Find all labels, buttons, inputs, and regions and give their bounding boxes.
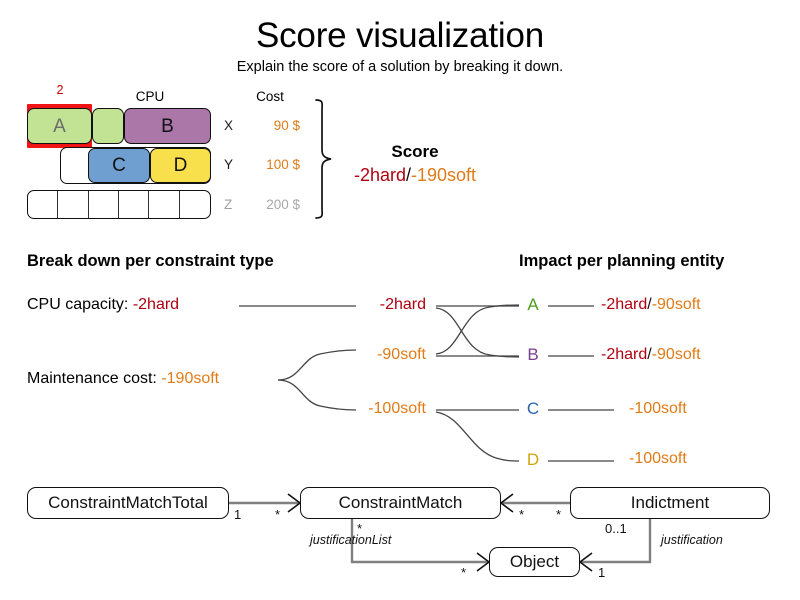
machine-row-label-z: Z xyxy=(224,197,232,212)
uml-multiplicity-cmt-source: 1 xyxy=(234,507,241,522)
constraint-score-maintenance-cost: -190soft xyxy=(161,370,219,387)
column-header-cpu: CPU xyxy=(118,89,182,104)
uml-class-object[interactable]: Object xyxy=(489,547,580,577)
grid-cell xyxy=(119,191,149,218)
entity-letter-b[interactable]: B xyxy=(521,345,545,365)
score-visualization-page: Score visualization Explain the score of… xyxy=(0,0,800,600)
machine-row-label-y: Y xyxy=(224,157,233,172)
process-block-d[interactable]: D xyxy=(150,148,211,183)
machine-cost-y: 100 $ xyxy=(240,157,300,172)
entity-letter-c[interactable]: C xyxy=(521,399,545,419)
overflow-count-label: 2 xyxy=(45,83,75,97)
impact-score-b: -2hard/-90soft xyxy=(601,346,701,364)
constraint-row-cpu-capacity: CPU capacity: -2hard xyxy=(27,296,179,314)
constraint-name-cpu-capacity: CPU capacity: xyxy=(27,296,128,313)
page-subtitle: Explain the score of a solution by break… xyxy=(0,59,800,75)
machine-cost-z: 200 $ xyxy=(240,197,300,212)
uml-multiplicity-indictment-target: * xyxy=(519,507,524,522)
process-block-c[interactable]: C xyxy=(88,148,150,183)
score-total-value: -2hard/-190soft xyxy=(325,165,505,186)
match-score-2hard: -2hard xyxy=(296,296,426,314)
impact-score-a-soft: -90soft xyxy=(652,296,701,313)
score-total-hard: -2hard xyxy=(354,165,406,185)
grid-cell xyxy=(58,191,88,218)
score-total-label: Score xyxy=(330,142,500,162)
line-2hard-to-b xyxy=(436,308,519,357)
line-100soft-to-d xyxy=(436,412,519,461)
uml-role-justification-list: justificationList xyxy=(310,533,391,547)
impact-score-d: -100soft xyxy=(629,450,687,468)
impact-score-a-hard: -2hard xyxy=(601,296,647,313)
impact-score-b-soft: -90soft xyxy=(652,346,701,363)
constraint-name-maintenance-cost: Maintenance cost: xyxy=(27,370,157,387)
entity-letter-d[interactable]: D xyxy=(521,450,545,470)
uml-multiplicity-indictment-object-source: 0..1 xyxy=(605,521,627,536)
process-block-b[interactable]: B xyxy=(124,108,211,144)
process-block-a-extra[interactable] xyxy=(92,108,124,144)
grid-cell xyxy=(89,191,119,218)
uml-class-constraintmatchtotal[interactable]: ConstraintMatchTotal xyxy=(27,487,229,519)
uml-multiplicity-cmt-target: * xyxy=(275,507,280,522)
grid-cell xyxy=(28,191,58,218)
uml-multiplicity-object-from-indictment: 1 xyxy=(598,565,605,580)
impact-score-c: -100soft xyxy=(629,400,687,418)
uml-class-constraintmatch[interactable]: ConstraintMatch xyxy=(300,487,501,519)
uml-multiplicity-object-from-cm: * xyxy=(461,565,466,580)
match-score-90soft: -90soft xyxy=(296,346,426,364)
column-header-cost: Cost xyxy=(238,89,302,104)
match-score-100soft: -100soft xyxy=(290,400,426,418)
uml-multiplicity-indictment-source: * xyxy=(556,507,561,522)
grid-cell xyxy=(180,191,210,218)
constraint-score-cpu-capacity: -2hard xyxy=(133,296,179,313)
page-title: Score visualization xyxy=(0,16,800,56)
process-block-a[interactable]: A xyxy=(27,108,92,144)
score-total-soft: -190soft xyxy=(411,165,476,185)
machine-cost-x: 90 $ xyxy=(240,118,300,133)
constraint-row-maintenance-cost: Maintenance cost: -190soft xyxy=(27,370,219,388)
line-90soft-to-a xyxy=(436,305,519,354)
uml-class-indictment[interactable]: Indictment xyxy=(570,487,770,519)
machine-bar-outline-z xyxy=(27,190,211,219)
impact-score-b-hard: -2hard xyxy=(601,346,647,363)
grid-cell xyxy=(149,191,179,218)
uml-role-justification: justification xyxy=(661,533,723,547)
machine-row-label-x: X xyxy=(224,118,233,133)
entity-letter-a[interactable]: A xyxy=(521,295,545,315)
impact-score-a: -2hard/-90soft xyxy=(601,296,701,314)
